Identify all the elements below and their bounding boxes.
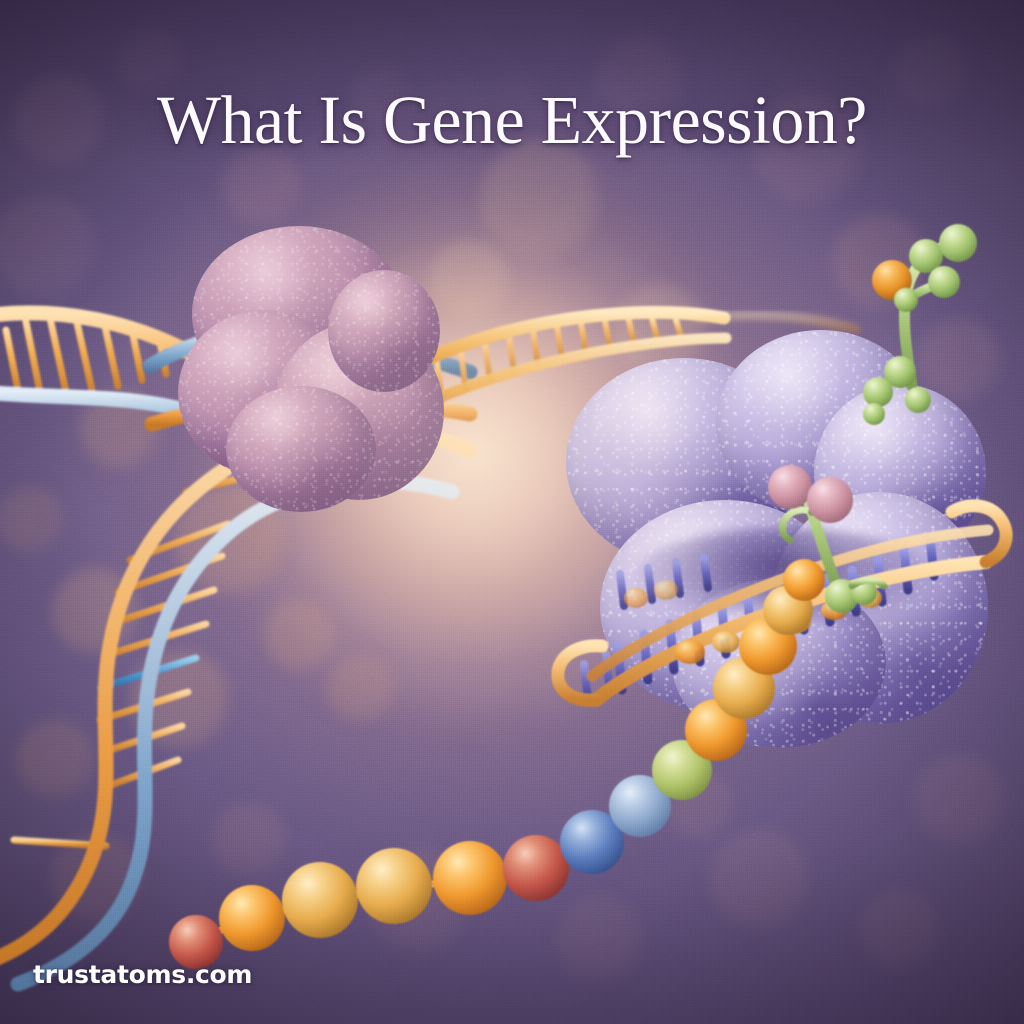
amino-acid-bead bbox=[433, 841, 507, 915]
amino-acid-bead bbox=[783, 559, 825, 601]
trna-top bbox=[863, 224, 977, 425]
page-title: What Is Gene Expression? bbox=[8, 86, 1017, 155]
amino-acid-bead bbox=[282, 862, 358, 938]
gene-expression-illustration: What Is Gene Expression? trustatoms.com bbox=[0, 0, 1024, 1024]
trna-head-pink-2 bbox=[807, 477, 853, 523]
amino-acid-bead bbox=[503, 835, 569, 901]
amino-acid-bead bbox=[219, 885, 285, 951]
amino-acid-bead bbox=[356, 848, 432, 924]
watermark: trustatoms.com bbox=[33, 960, 252, 989]
trna-head-pink-1 bbox=[768, 465, 812, 509]
